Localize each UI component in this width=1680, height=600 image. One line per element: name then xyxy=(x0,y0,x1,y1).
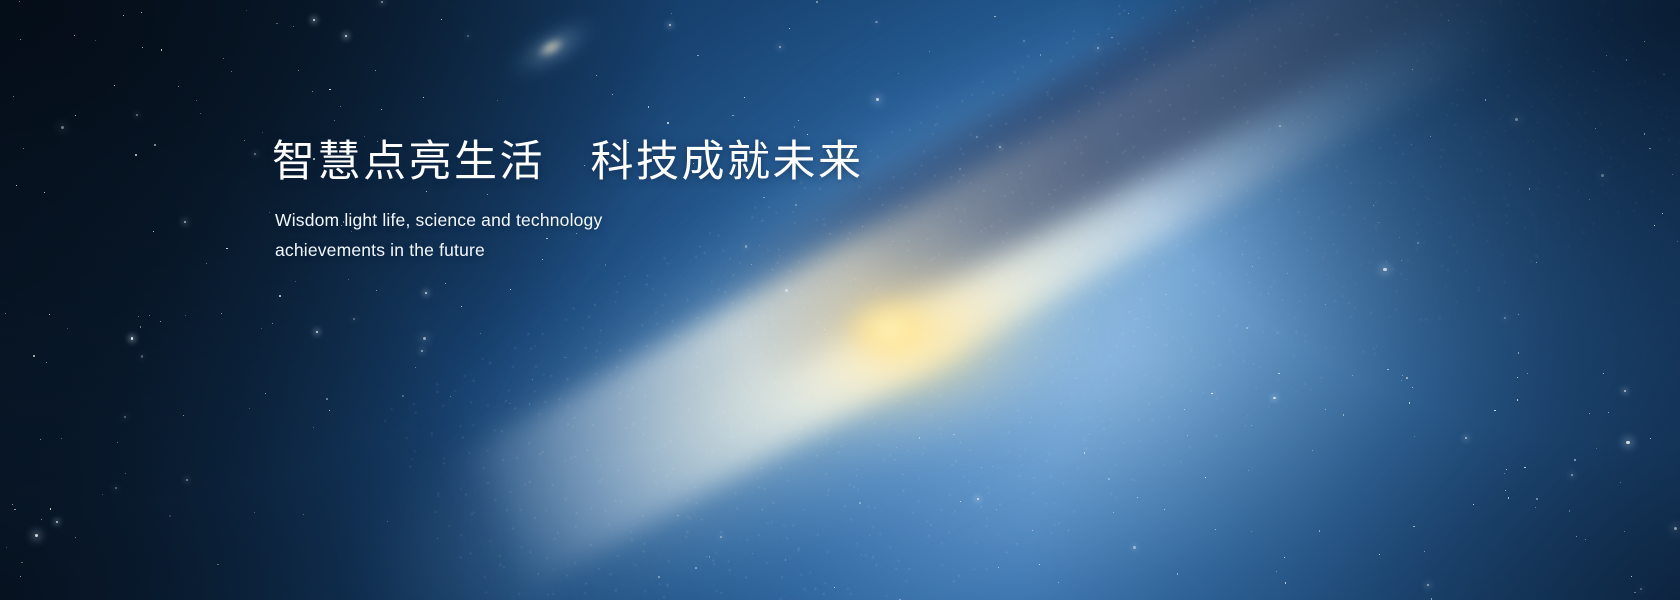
star xyxy=(183,415,184,416)
star xyxy=(859,502,861,504)
star xyxy=(1401,380,1403,382)
star xyxy=(752,553,753,554)
star xyxy=(1571,474,1573,476)
star xyxy=(246,10,248,12)
star xyxy=(20,576,21,577)
star xyxy=(186,479,188,481)
star xyxy=(1100,92,1101,93)
star xyxy=(46,362,47,363)
star xyxy=(1276,571,1277,572)
star xyxy=(425,292,427,294)
star xyxy=(1252,266,1253,267)
star xyxy=(929,51,930,52)
star xyxy=(1409,402,1411,404)
star xyxy=(1032,530,1034,532)
star xyxy=(1111,37,1113,39)
star xyxy=(1644,41,1645,42)
star xyxy=(1574,459,1576,461)
star xyxy=(1184,409,1185,410)
star xyxy=(141,12,143,14)
star xyxy=(293,26,294,27)
star xyxy=(509,403,511,405)
star xyxy=(154,144,156,146)
star xyxy=(1663,74,1665,76)
star xyxy=(1147,327,1148,328)
star xyxy=(142,47,143,48)
star xyxy=(1517,399,1519,401)
star xyxy=(677,515,679,517)
star xyxy=(953,434,955,436)
star xyxy=(1601,174,1604,177)
star xyxy=(1494,410,1496,412)
star xyxy=(1417,242,1419,244)
star xyxy=(313,427,314,428)
star xyxy=(762,509,763,510)
star xyxy=(276,23,278,25)
star xyxy=(161,49,163,51)
star xyxy=(896,447,897,448)
star xyxy=(329,410,330,411)
star xyxy=(1606,55,1607,56)
star xyxy=(217,564,219,566)
star xyxy=(135,154,137,156)
star xyxy=(295,281,296,282)
star xyxy=(1164,509,1165,510)
star xyxy=(1268,293,1269,294)
star xyxy=(196,100,197,101)
star xyxy=(376,290,377,291)
star xyxy=(785,559,787,561)
star xyxy=(381,109,382,110)
star xyxy=(1177,573,1179,575)
star xyxy=(1631,576,1633,578)
star xyxy=(254,512,255,513)
star xyxy=(221,313,222,314)
star xyxy=(1175,10,1176,11)
star xyxy=(1089,434,1090,435)
star xyxy=(1515,118,1518,121)
star xyxy=(1505,490,1506,491)
star xyxy=(824,329,825,330)
star xyxy=(445,283,446,284)
star xyxy=(1517,377,1518,378)
star xyxy=(1527,373,1528,374)
star xyxy=(779,46,781,48)
star xyxy=(254,153,256,155)
star xyxy=(856,475,858,477)
star xyxy=(316,331,318,333)
star xyxy=(960,501,962,503)
star xyxy=(1427,584,1429,586)
star xyxy=(141,355,143,357)
star xyxy=(994,16,996,18)
star xyxy=(74,35,75,36)
star xyxy=(231,71,232,72)
star xyxy=(992,466,993,467)
star xyxy=(1624,531,1625,532)
star xyxy=(1448,20,1449,21)
star xyxy=(998,567,999,568)
star xyxy=(21,562,23,564)
star xyxy=(178,86,179,87)
star xyxy=(732,115,734,117)
star xyxy=(1205,477,1206,478)
star xyxy=(33,355,35,357)
star xyxy=(1319,530,1321,532)
star xyxy=(1057,358,1058,359)
star xyxy=(114,85,116,87)
star xyxy=(789,28,791,30)
star xyxy=(658,576,660,578)
star xyxy=(1285,582,1287,584)
star xyxy=(612,94,614,96)
star xyxy=(102,494,103,495)
star xyxy=(1023,40,1025,42)
star xyxy=(1585,539,1586,540)
star xyxy=(834,587,835,588)
star xyxy=(185,315,186,316)
star xyxy=(348,279,349,280)
star xyxy=(1068,530,1069,531)
star xyxy=(1465,437,1467,439)
star xyxy=(1414,436,1415,437)
star xyxy=(160,321,161,322)
star xyxy=(1518,352,1520,354)
star xyxy=(375,70,376,71)
star xyxy=(1649,148,1651,150)
star xyxy=(998,275,999,276)
star xyxy=(19,1,20,2)
star xyxy=(149,315,150,316)
star xyxy=(1378,222,1380,224)
star xyxy=(720,536,722,538)
star xyxy=(1031,417,1032,418)
star xyxy=(1504,473,1505,474)
star xyxy=(876,98,879,101)
star xyxy=(1608,412,1609,413)
star xyxy=(1379,554,1380,555)
banner-subtitle: Wisdom light life, science and technolog… xyxy=(272,186,675,265)
star xyxy=(1593,71,1594,72)
star xyxy=(794,126,796,128)
star xyxy=(200,113,201,114)
star xyxy=(35,534,38,537)
star xyxy=(1677,241,1678,242)
star xyxy=(807,134,808,135)
star xyxy=(345,35,347,37)
hero-banner: 智慧点亮生活 科技成就未来 Wisdom light life, science… xyxy=(0,0,1680,600)
star xyxy=(1251,425,1252,426)
star xyxy=(1373,205,1374,206)
star xyxy=(353,318,355,320)
star xyxy=(1128,13,1130,15)
star xyxy=(61,438,63,440)
star xyxy=(1155,334,1156,335)
star xyxy=(1650,438,1651,439)
banner-headline: 智慧点亮生活 科技成就未来 xyxy=(272,138,1032,186)
star xyxy=(1343,414,1345,416)
star xyxy=(138,316,139,317)
star xyxy=(697,55,699,57)
star xyxy=(1192,40,1194,42)
star xyxy=(1620,482,1621,483)
star xyxy=(1589,199,1590,200)
star xyxy=(1383,268,1386,271)
star xyxy=(265,393,267,395)
star xyxy=(312,91,314,93)
star xyxy=(13,96,14,97)
star xyxy=(1524,467,1526,469)
star xyxy=(56,521,58,523)
star xyxy=(1058,582,1059,583)
star xyxy=(1248,470,1250,472)
star xyxy=(1569,510,1571,512)
star xyxy=(1137,318,1138,319)
star xyxy=(1215,529,1216,530)
star xyxy=(169,515,171,517)
star xyxy=(746,390,747,391)
star xyxy=(272,323,273,324)
star xyxy=(772,269,773,270)
star xyxy=(136,114,138,116)
star xyxy=(441,19,442,20)
star xyxy=(529,403,531,405)
star xyxy=(329,89,331,91)
star xyxy=(1312,450,1313,451)
star xyxy=(1595,128,1596,129)
star xyxy=(5,313,6,314)
star xyxy=(1386,261,1387,262)
star xyxy=(1412,387,1413,388)
star xyxy=(1485,99,1487,101)
star xyxy=(1411,144,1412,145)
star xyxy=(467,35,469,37)
star xyxy=(497,100,498,101)
star xyxy=(1603,373,1604,374)
star xyxy=(1529,188,1531,190)
star xyxy=(123,15,124,16)
star xyxy=(50,508,52,510)
star xyxy=(1039,564,1040,565)
star xyxy=(6,547,7,548)
star xyxy=(244,140,246,142)
star xyxy=(461,306,462,307)
star xyxy=(303,514,304,515)
star xyxy=(1387,369,1389,371)
star xyxy=(184,221,186,223)
star xyxy=(1624,390,1626,392)
star xyxy=(1279,125,1281,127)
star xyxy=(1644,133,1646,135)
star xyxy=(450,396,451,397)
star xyxy=(115,487,117,489)
star xyxy=(423,97,424,98)
star xyxy=(14,509,16,511)
star xyxy=(1413,526,1415,528)
star xyxy=(12,504,13,505)
star xyxy=(1110,356,1111,357)
star xyxy=(387,521,388,522)
star xyxy=(1108,478,1110,480)
star xyxy=(249,408,250,409)
star xyxy=(261,328,262,329)
star xyxy=(1518,314,1520,316)
star xyxy=(510,289,511,290)
star xyxy=(1084,452,1086,454)
star xyxy=(223,58,224,59)
star xyxy=(1352,375,1353,376)
star xyxy=(919,437,921,439)
star xyxy=(1672,174,1673,175)
star xyxy=(996,509,997,510)
star xyxy=(1654,225,1655,226)
star xyxy=(437,538,438,539)
star xyxy=(226,248,228,250)
star xyxy=(1634,592,1636,594)
star xyxy=(1129,311,1131,313)
star xyxy=(1506,469,1507,470)
star xyxy=(1431,598,1433,600)
star xyxy=(1626,441,1629,444)
star xyxy=(667,122,669,124)
star xyxy=(131,337,133,339)
banner-copy: 智慧点亮生活 科技成就未来 Wisdom light life, science… xyxy=(272,138,1032,265)
star xyxy=(67,328,68,329)
star xyxy=(869,535,871,537)
star xyxy=(61,126,64,129)
star xyxy=(423,337,426,340)
star xyxy=(1402,375,1403,376)
star xyxy=(334,120,335,121)
star xyxy=(1325,409,1326,410)
star xyxy=(313,19,315,21)
star xyxy=(1325,304,1326,305)
star xyxy=(1536,498,1538,500)
star xyxy=(1165,294,1167,296)
star xyxy=(1284,557,1285,558)
star xyxy=(75,537,77,539)
star xyxy=(1406,377,1408,379)
star xyxy=(857,469,858,470)
star xyxy=(402,395,404,397)
star xyxy=(117,442,118,443)
star xyxy=(1626,59,1628,61)
star xyxy=(977,498,979,500)
star xyxy=(95,40,96,41)
star xyxy=(1399,237,1401,239)
star xyxy=(532,379,533,380)
star xyxy=(1674,527,1677,530)
star xyxy=(1508,497,1510,499)
star xyxy=(23,148,25,150)
star xyxy=(816,1,818,3)
star xyxy=(140,326,142,328)
star xyxy=(1424,551,1425,552)
star xyxy=(1287,273,1288,274)
star xyxy=(1662,213,1663,214)
star xyxy=(785,289,788,292)
star xyxy=(1473,504,1474,505)
star xyxy=(695,567,697,569)
star xyxy=(744,97,746,99)
star xyxy=(153,231,155,233)
star xyxy=(20,39,21,40)
star xyxy=(596,75,597,76)
star xyxy=(421,350,423,352)
star xyxy=(1401,260,1402,261)
star xyxy=(262,132,263,133)
star xyxy=(564,357,566,359)
star xyxy=(1333,244,1334,245)
star xyxy=(798,120,799,121)
star xyxy=(990,125,991,126)
star xyxy=(75,115,76,116)
star xyxy=(671,13,672,14)
star xyxy=(49,314,50,315)
star xyxy=(1273,397,1275,399)
star xyxy=(480,333,481,334)
starfield xyxy=(0,0,1680,600)
star xyxy=(1187,435,1188,436)
star xyxy=(1430,136,1431,137)
star xyxy=(624,276,625,277)
star xyxy=(1133,546,1135,548)
star xyxy=(44,192,45,193)
star xyxy=(1211,393,1213,395)
star xyxy=(935,310,936,311)
star xyxy=(340,106,341,107)
star xyxy=(1576,536,1577,537)
star xyxy=(669,24,671,26)
star xyxy=(381,1,383,3)
star xyxy=(1589,413,1590,414)
star xyxy=(1137,497,1138,498)
star xyxy=(124,416,126,418)
star xyxy=(981,467,982,468)
star xyxy=(41,519,42,520)
star xyxy=(1242,254,1243,255)
star xyxy=(415,367,417,369)
star xyxy=(125,473,126,474)
star xyxy=(1097,47,1099,49)
star xyxy=(1246,327,1248,329)
star xyxy=(898,73,899,74)
star xyxy=(648,106,650,108)
star xyxy=(1040,54,1042,56)
star xyxy=(1535,507,1536,508)
star xyxy=(1504,317,1506,319)
star xyxy=(16,185,17,186)
star xyxy=(40,439,41,440)
star xyxy=(1640,588,1642,590)
star xyxy=(1596,448,1597,449)
star xyxy=(1113,512,1114,513)
star xyxy=(206,263,208,265)
star xyxy=(1412,69,1413,70)
star xyxy=(1278,373,1280,375)
star xyxy=(709,557,710,558)
star xyxy=(279,295,281,297)
star xyxy=(269,212,270,213)
star xyxy=(326,398,328,400)
star xyxy=(1251,531,1252,532)
star xyxy=(1536,262,1537,263)
star xyxy=(298,70,299,71)
star xyxy=(875,21,877,23)
